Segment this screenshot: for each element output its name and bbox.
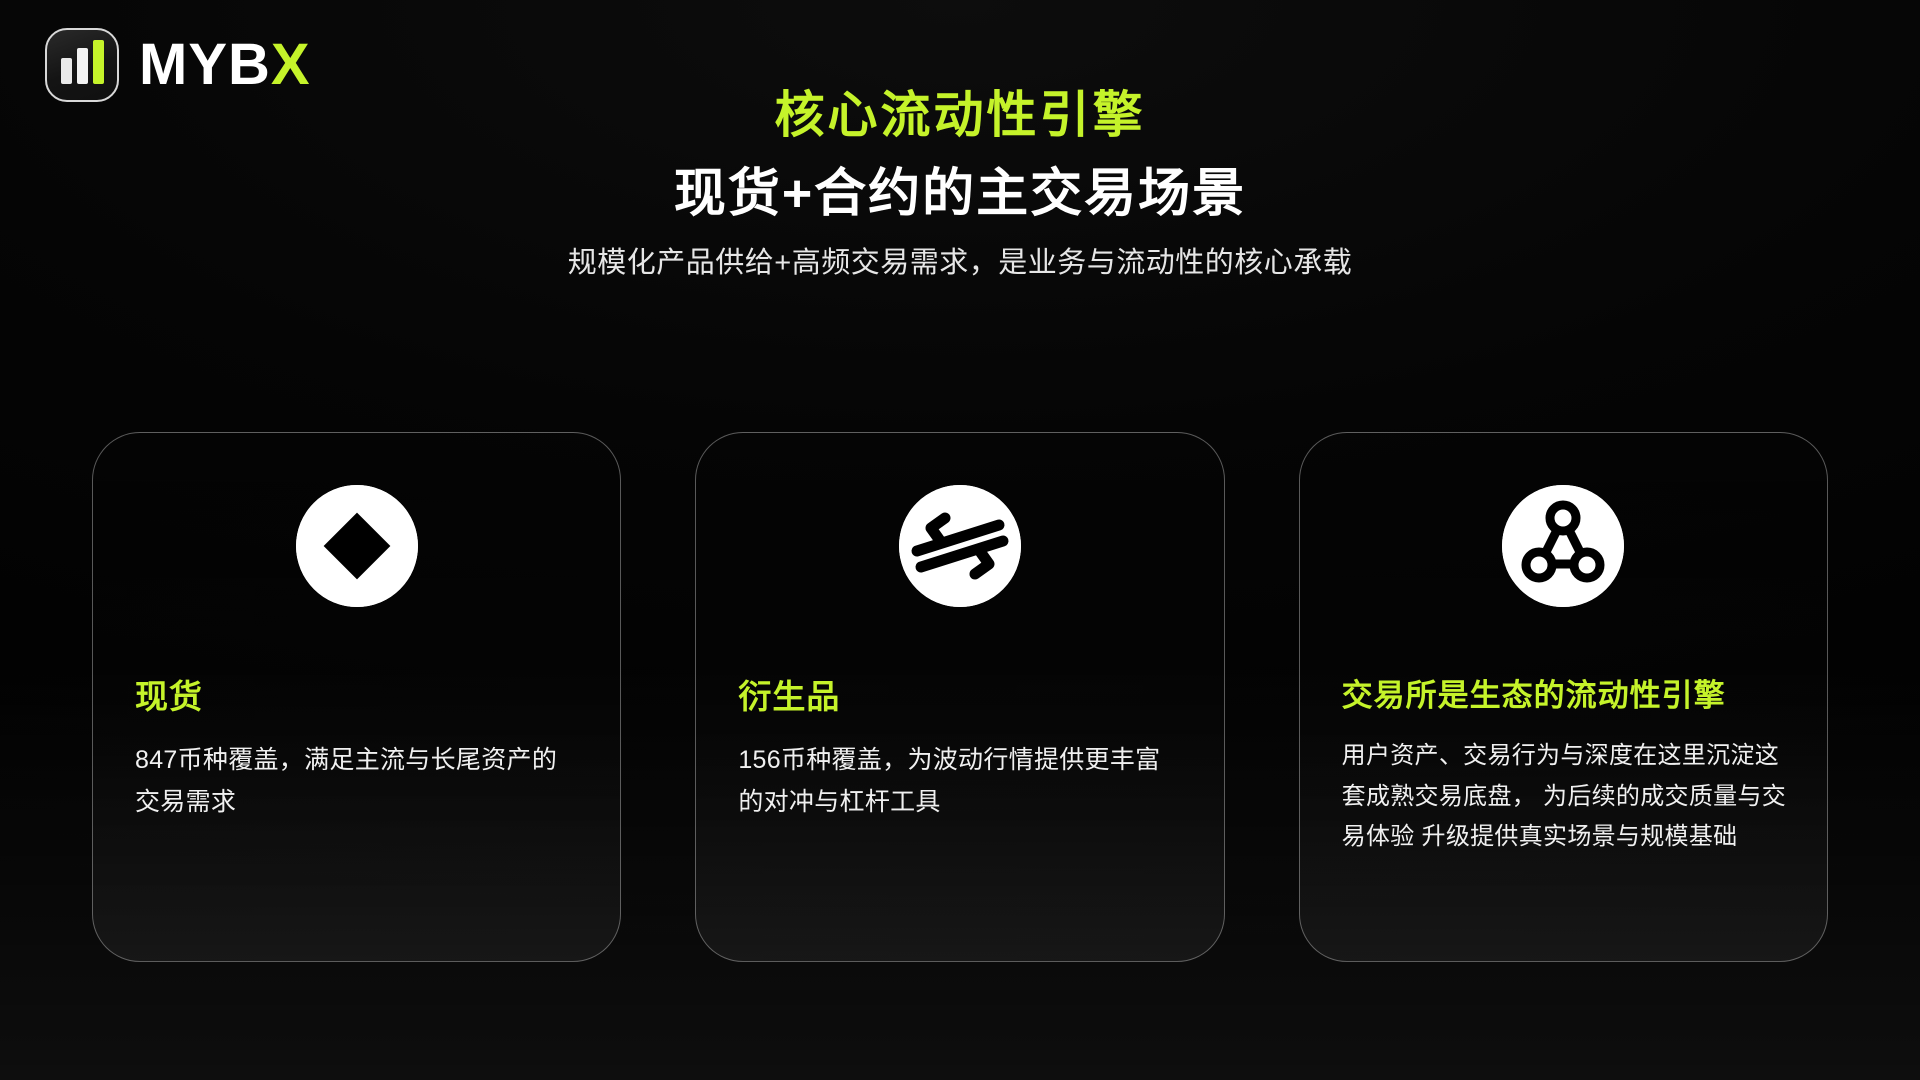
swap-arrows-circle-icon (899, 485, 1021, 607)
header-block: 核心流动性引擎 现货+合约的主交易场景 规模化产品供给+高频交易需求，是业务与流… (0, 88, 1920, 283)
section-subtitle: 规模化产品供给+高频交易需求，是业务与流动性的核心承载 (0, 245, 1920, 283)
logo-bar-1 (61, 58, 72, 84)
brand-wordmark: MY B X (139, 36, 311, 94)
card-title: 衍生品 (738, 677, 1183, 717)
logo-bar-2 (77, 48, 88, 84)
card-body: 847币种覆盖，满足主流与长尾资产的交易需求 (135, 739, 580, 823)
card-title: 交易所是生态的流动性引擎 (1342, 677, 1787, 714)
network-nodes-circle-icon (1502, 485, 1624, 607)
section-eyebrow: 核心流动性引擎 (0, 88, 1920, 143)
slide-root: MY B X 核心流动性引擎 现货+合约的主交易场景 规模化产品供给+高频交易需… (0, 0, 1920, 1080)
page-title: 现货+合约的主交易场景 (0, 165, 1920, 223)
feature-card-exchange-engine[interactable]: 交易所是生态的流动性引擎 用户资产、交易行为与深度在这里沉淀这套成熟交易底盘， … (1299, 432, 1828, 962)
feature-card-spot[interactable]: 现货 847币种覆盖，满足主流与长尾资产的交易需求 (92, 432, 621, 962)
logo-bar-3 (93, 40, 104, 84)
card-body: 156币种覆盖，为波动行情提供更丰富的对冲与杠杆工具 (738, 739, 1183, 823)
card-title: 现货 (135, 677, 580, 717)
wordmark-x: X (271, 36, 311, 94)
card-body: 用户资产、交易行为与深度在这里沉淀这套成熟交易底盘， 为后续的成交质量与交易体验… (1342, 736, 1787, 857)
diamond-circle-icon (296, 485, 418, 607)
wordmark-b: B (228, 36, 271, 94)
wordmark-my: MY (139, 36, 228, 94)
feature-card-derivatives[interactable]: 衍生品 156币种覆盖，为波动行情提供更丰富的对冲与杠杆工具 (695, 432, 1224, 962)
feature-card-list: 现货 847币种覆盖，满足主流与长尾资产的交易需求 衍生品 156币种覆盖，为波… (92, 432, 1828, 962)
